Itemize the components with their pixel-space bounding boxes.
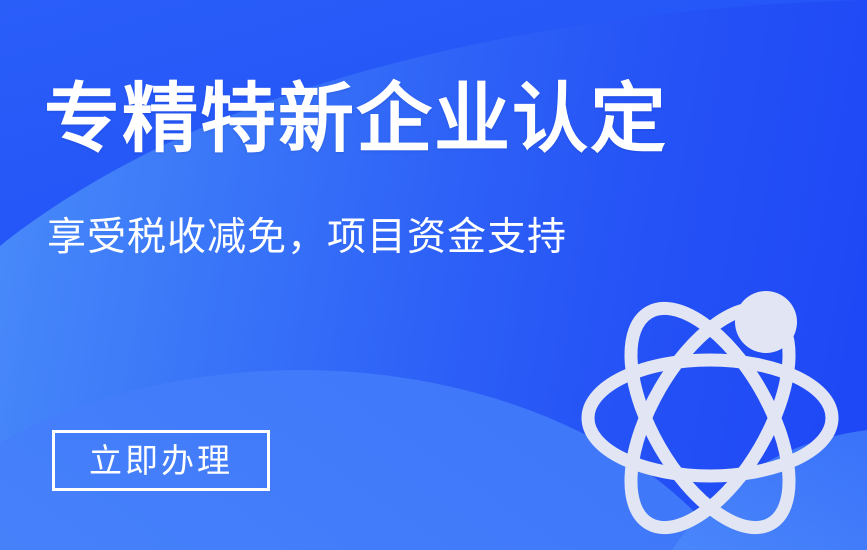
page-title: 专精特新企业认定	[44, 82, 668, 158]
atom-icon	[575, 282, 865, 550]
promo-banner: 专精特新企业认定 享受税收减免，项目资金支持 立即办理	[0, 0, 867, 550]
banner-content: 专精特新企业认定 享受税收减免，项目资金支持 立即办理	[0, 0, 867, 550]
atom-orbit-horizontal	[588, 360, 832, 476]
banner-subtitle: 享受税收减免，项目资金支持	[47, 216, 567, 261]
atom-electron-node	[735, 291, 797, 353]
apply-now-button[interactable]: 立即办理	[52, 430, 270, 491]
